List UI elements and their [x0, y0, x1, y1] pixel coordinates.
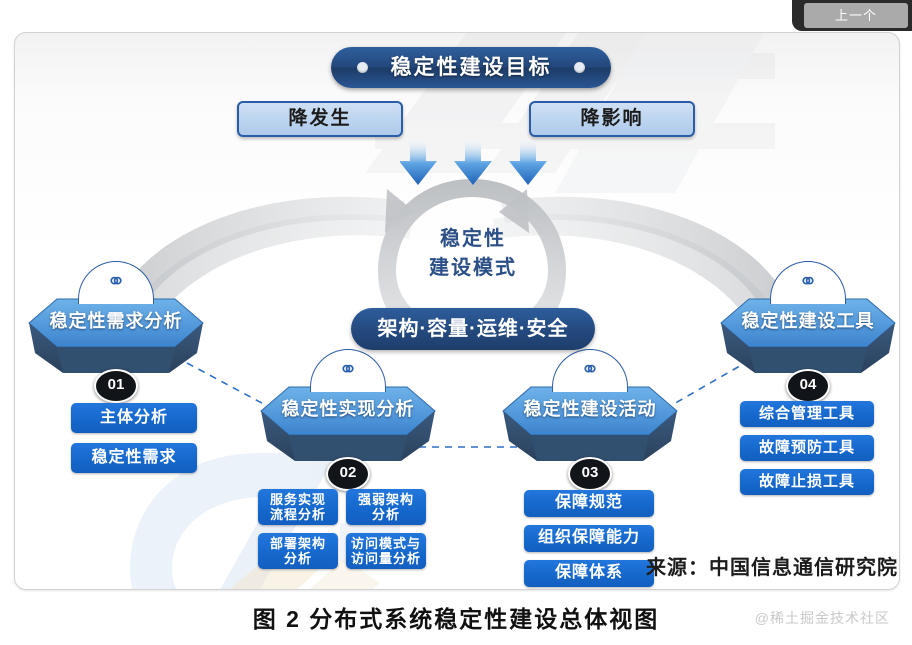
node-02[interactable]: ⚭ 稳定性实现分析 02 [253, 349, 443, 469]
title-dot-right [574, 62, 585, 73]
chip-item[interactable]: 故障止损工具 [740, 469, 874, 495]
node-label: 稳定性建设工具 [713, 307, 900, 333]
chip-item[interactable]: 主体分析 [71, 403, 197, 433]
diagram-title-pill: 稳定性建设目标 [331, 47, 611, 88]
banner-reduce-occurrence: 降发生 [237, 101, 403, 137]
source-note: 来源：中国信息通信研究院 [646, 551, 898, 580]
prev-button[interactable]: 上一个 [804, 3, 908, 28]
screenshot-root: 稳定性建设目标 降发生 降影响 [0, 0, 912, 645]
center-line-2: 建设模式 [387, 254, 559, 283]
banner-label: 降发生 [239, 103, 401, 135]
interlocking-rings-icon: ⚭ [311, 358, 385, 381]
node-icon-dome: ⚭ [78, 261, 154, 304]
chip-line-1: 强弱架构分析 [358, 492, 414, 523]
node-icon-dome: ⚭ [770, 261, 846, 304]
center-pillars-label: 架构·容量·运维·安全 [351, 308, 595, 350]
node-number-badge: 01 [94, 369, 138, 403]
node-04-items: 综合管理工具 故障预防工具 故障止损工具 [740, 401, 876, 495]
diagram-title: 稳定性建设目标 [331, 47, 611, 88]
node-01[interactable]: ⚭ 稳定性需求分析 01 [21, 261, 211, 381]
node-icon-dome: ⚭ [310, 349, 386, 392]
node-label: 稳定性建设活动 [495, 395, 685, 421]
slide-card: 稳定性建设目标 降发生 降影响 [14, 32, 900, 590]
center-mode-text: 稳定性 建设模式 [387, 225, 559, 285]
chip-item[interactable]: 强弱架构分析 [346, 489, 426, 525]
center-line-1: 稳定性 [387, 225, 559, 254]
site-watermark: @稀土掘金技术社区 [755, 608, 890, 628]
node-number-badge: 04 [786, 369, 830, 403]
node-icon-dome: ⚭ [552, 349, 628, 392]
chip-item[interactable]: 访问模式与访问量分析 [346, 533, 426, 569]
node-03[interactable]: ⚭ 稳定性建设活动 03 [495, 349, 685, 469]
chip-item[interactable]: 故障预防工具 [740, 435, 874, 461]
interlocking-rings-icon: ⚭ [771, 270, 845, 293]
node-04[interactable]: ⚭ 稳定性建设工具 04 [713, 261, 900, 381]
chip-item[interactable]: 组织保障能力 [524, 525, 654, 552]
node-label: 稳定性实现分析 [253, 395, 443, 421]
center-pillars-pill: 架构·容量·运维·安全 [351, 308, 595, 350]
chip-line-1: 服务实现流程分析 [270, 492, 326, 523]
chip-item[interactable]: 综合管理工具 [740, 401, 874, 427]
chip-line-1: 部署架构分析 [270, 536, 326, 567]
chip-item[interactable]: 保障规范 [524, 490, 654, 517]
viewer-topbar: 上一个 [792, 0, 912, 31]
node-01-items: 主体分析 稳定性需求 [71, 403, 201, 473]
chip-item[interactable]: 服务实现流程分析 [258, 489, 338, 525]
banner-label: 降影响 [531, 103, 693, 135]
node-number-badge: 02 [326, 457, 370, 491]
interlocking-rings-icon: ⚭ [79, 270, 153, 293]
node-03-items: 保障规范 组织保障能力 保障体系 [524, 490, 656, 587]
node-number-badge: 03 [568, 457, 612, 491]
chip-item[interactable]: 保障体系 [524, 560, 654, 587]
banner-reduce-impact: 降影响 [529, 101, 695, 137]
interlocking-rings-icon: ⚭ [553, 358, 627, 381]
down-arrows [400, 137, 550, 185]
chip-item[interactable]: 稳定性需求 [71, 443, 197, 473]
node-label: 稳定性需求分析 [21, 307, 211, 333]
chip-line-1: 访问模式与访问量分析 [351, 536, 421, 567]
node-02-items: 服务实现流程分析 强弱架构分析 部署架构分析 访问模式与访问量分析 [258, 489, 443, 569]
chip-item[interactable]: 部署架构分析 [258, 533, 338, 569]
